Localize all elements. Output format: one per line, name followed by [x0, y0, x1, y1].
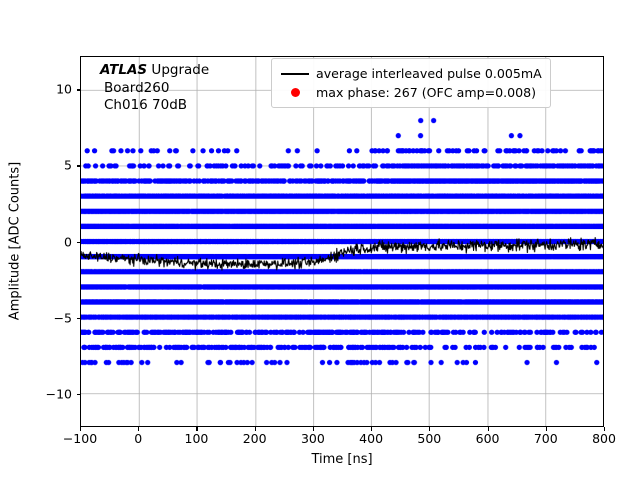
x-tick-mark	[313, 427, 314, 431]
legend-marker-key	[278, 88, 312, 97]
x-tick-label-3: 200	[243, 431, 267, 446]
legend-entry-max-phase: max phase: 267 (OFC amp=0.008)	[278, 83, 542, 102]
x-tick-label-0: −100	[63, 431, 97, 446]
x-tick-mark	[488, 427, 489, 431]
scatter-plot-canvas	[81, 57, 603, 426]
y-tick-mark	[77, 242, 81, 243]
y-tick-mark	[77, 318, 81, 319]
x-tick-label-7: 600	[476, 431, 500, 446]
x-tick-mark	[196, 427, 197, 431]
y-tick-label-1: −5	[38, 310, 72, 325]
y-tick-mark	[77, 394, 81, 395]
x-tick-mark	[138, 427, 139, 431]
legend-line-key	[278, 73, 312, 75]
x-axis-label: Time [ns]	[311, 452, 372, 467]
x-tick-label-9: 800	[592, 431, 616, 446]
y-tick-label-3: 5	[38, 158, 72, 173]
y-tick-label-0: −10	[38, 386, 72, 401]
legend-label-average-pulse: average interleaved pulse 0.005mA	[312, 66, 542, 81]
x-tick-mark	[604, 427, 605, 431]
legend-label-max-phase: max phase: 267 (OFC amp=0.008)	[312, 85, 536, 100]
y-tick-label-4: 10	[38, 82, 72, 97]
x-tick-mark	[371, 427, 372, 431]
x-tick-label-4: 300	[301, 431, 325, 446]
x-tick-label-6: 500	[417, 431, 441, 446]
legend: average interleaved pulse 0.005mA max ph…	[271, 58, 551, 108]
y-tick-mark	[77, 89, 81, 90]
x-tick-label-5: 400	[359, 431, 383, 446]
x-tick-mark	[546, 427, 547, 431]
x-tick-label-8: 700	[534, 431, 558, 446]
figure-canvas: −1000100200300400500600700800−10−50510 T…	[0, 0, 640, 480]
y-tick-label-2: 0	[38, 234, 72, 249]
x-tick-mark	[255, 427, 256, 431]
x-tick-mark	[429, 427, 430, 431]
x-tick-label-1: 0	[134, 431, 142, 446]
y-tick-mark	[77, 165, 81, 166]
x-tick-mark	[80, 427, 81, 431]
plot-area	[80, 56, 604, 427]
x-tick-label-2: 100	[185, 431, 209, 446]
y-axis-label: Amplitude [ADC Counts]	[8, 162, 23, 320]
legend-entry-average-pulse: average interleaved pulse 0.005mA	[278, 64, 542, 83]
